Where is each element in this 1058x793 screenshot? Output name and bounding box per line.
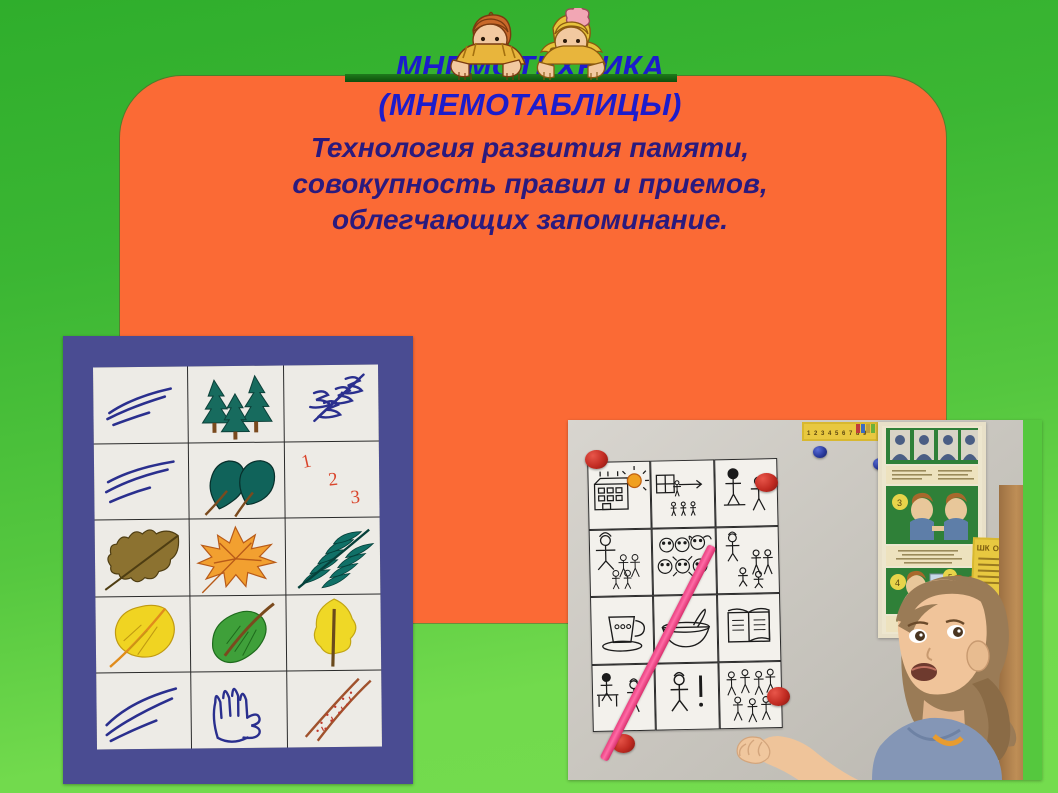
- leaf-cell: [285, 518, 380, 595]
- number-strip: 123 456 789: [802, 422, 878, 441]
- leaf-cell: [189, 442, 284, 519]
- girl-arm: [698, 688, 868, 780]
- two-children-peeking-icon: [415, 8, 615, 82]
- svg-text:К: К: [985, 544, 990, 553]
- sheet-cell: [715, 526, 780, 595]
- svg-text:3: 3: [349, 486, 360, 508]
- leaf-cell: [95, 596, 190, 673]
- photo-mnemonic-leaf-table: 1 2 3: [63, 336, 413, 784]
- leaf-cell: [95, 520, 190, 597]
- sheet-cell: [714, 458, 779, 527]
- svg-text:2: 2: [327, 468, 339, 490]
- sheet-cell: [717, 593, 782, 662]
- leaf-cell: [192, 672, 287, 749]
- green-edge-strip: [1023, 420, 1042, 780]
- leaf-cell: [96, 673, 191, 750]
- sheet-cell: [587, 461, 652, 530]
- leaf-cell: [188, 366, 283, 443]
- girl-illustration: [838, 560, 1042, 780]
- leaf-cell: [286, 594, 381, 671]
- sheet-cell: [589, 528, 654, 597]
- sheet-cell: [651, 459, 716, 528]
- svg-text:1: 1: [299, 450, 313, 473]
- svg-text:3: 3: [897, 498, 902, 508]
- svg-text:О: О: [993, 544, 1000, 553]
- sheet-cell: [590, 596, 655, 665]
- magnet-blue: [813, 446, 827, 458]
- slide-canvas: МНЕМОТЕХНИКА (МНЕМОТАБЛИЦЫ) Технология р…: [0, 0, 1058, 793]
- leaf-cell: [94, 443, 189, 520]
- leaf-cell-numbers: 1 2 3: [284, 441, 379, 518]
- photo-girl-at-board: 123 456 789 3: [568, 420, 1042, 780]
- leaf-cell: [93, 367, 188, 444]
- magnet-red: [755, 473, 778, 492]
- leaf-grid: 1 2 3: [93, 365, 382, 750]
- leaf-cell: [284, 365, 379, 442]
- leaf-cell: [287, 671, 382, 748]
- leaf-cell: [191, 595, 286, 672]
- leaf-cell: [190, 519, 285, 596]
- magnet-red: [585, 450, 608, 469]
